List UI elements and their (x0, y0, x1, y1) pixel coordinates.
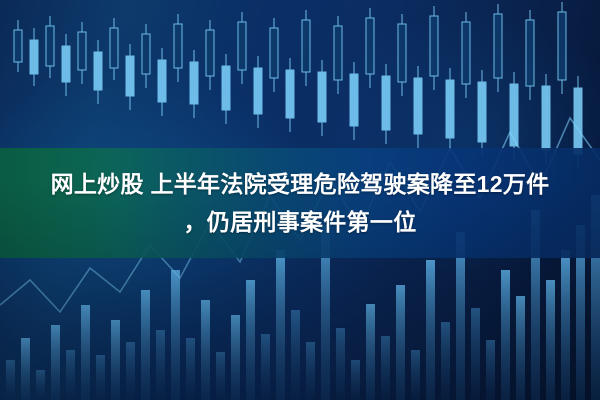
headline-line-1: 网上炒股 上半年法院受理危险驾驶案降至12万件 (51, 165, 550, 203)
headline-line-2: ，仍居刑事案件第一位 (184, 203, 417, 241)
headline-text-block: 网上炒股 上半年法院受理危险驾驶案降至12万件 ，仍居刑事案件第一位 (0, 148, 600, 258)
screenshot-root: 网上炒股 上半年法院受理危险驾驶案降至12万件 ，仍居刑事案件第一位 (0, 0, 600, 400)
